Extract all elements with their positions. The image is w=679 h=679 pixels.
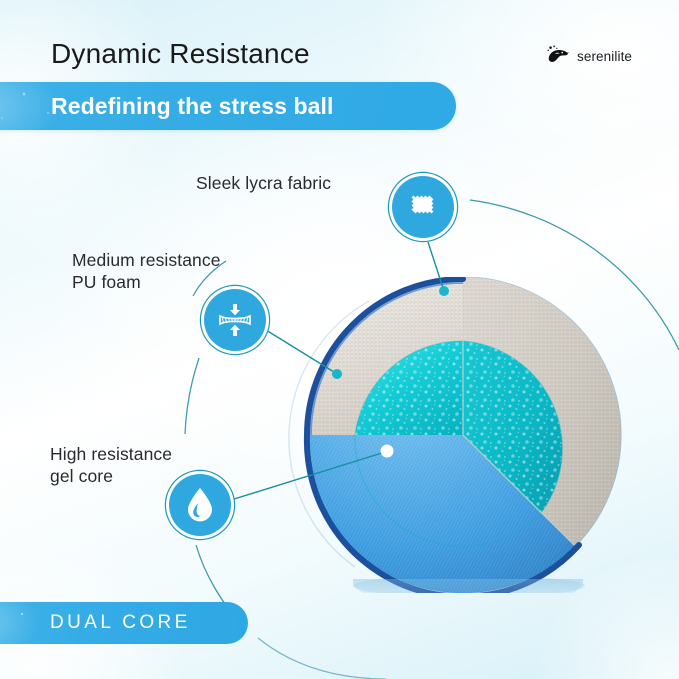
subtitle-text: Redefining the stress ball (51, 82, 334, 130)
callout-label-fabric: Sleek lycra fabric (196, 172, 331, 194)
callout-badge-foam[interactable] (204, 289, 266, 351)
anchor-dot-fabric (439, 286, 449, 296)
footer-banner: DUAL CORE (0, 602, 248, 644)
page-title: Dynamic Resistance (51, 38, 310, 70)
callout-badge-gel[interactable] (169, 474, 231, 536)
brand-logo[interactable]: serenilite (546, 45, 632, 67)
anchor-dot-gel (381, 445, 393, 457)
callout-label-foam: Medium resistance PU foam (72, 249, 221, 293)
bird-logo-icon (546, 45, 570, 67)
brand-name: serenilite (577, 49, 632, 64)
leader-gel (231, 452, 385, 500)
infographic-canvas: Dynamic Resistance Redefining the stress… (0, 0, 679, 679)
callout-label-gel: High resistance gel core (50, 443, 172, 487)
decorative-arc (185, 200, 679, 679)
subtitle-banner: Redefining the stress ball (0, 82, 456, 130)
fabric-swatch-icon (406, 190, 440, 224)
anchor-dot-foam (332, 369, 342, 379)
callout-badge-fabric[interactable] (392, 176, 454, 238)
leader-fabric (428, 242, 443, 288)
leader-fabric-label (386, 190, 392, 196)
footer-banner-text: DUAL CORE (50, 602, 191, 644)
compression-arrows-icon (216, 301, 254, 339)
water-droplet-icon (185, 487, 215, 523)
leader-foam (266, 330, 334, 372)
